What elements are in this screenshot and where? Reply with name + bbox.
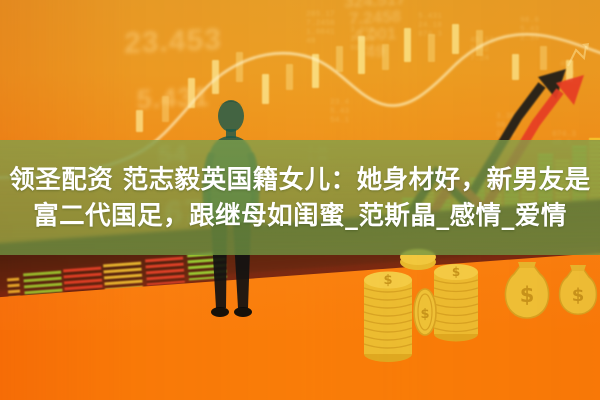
article-thumbnail-image: 285.17 7.2458 1.0041 49 3.309 2.340 98.6… [0, 0, 600, 400]
headline-band-gradient [0, 140, 600, 255]
